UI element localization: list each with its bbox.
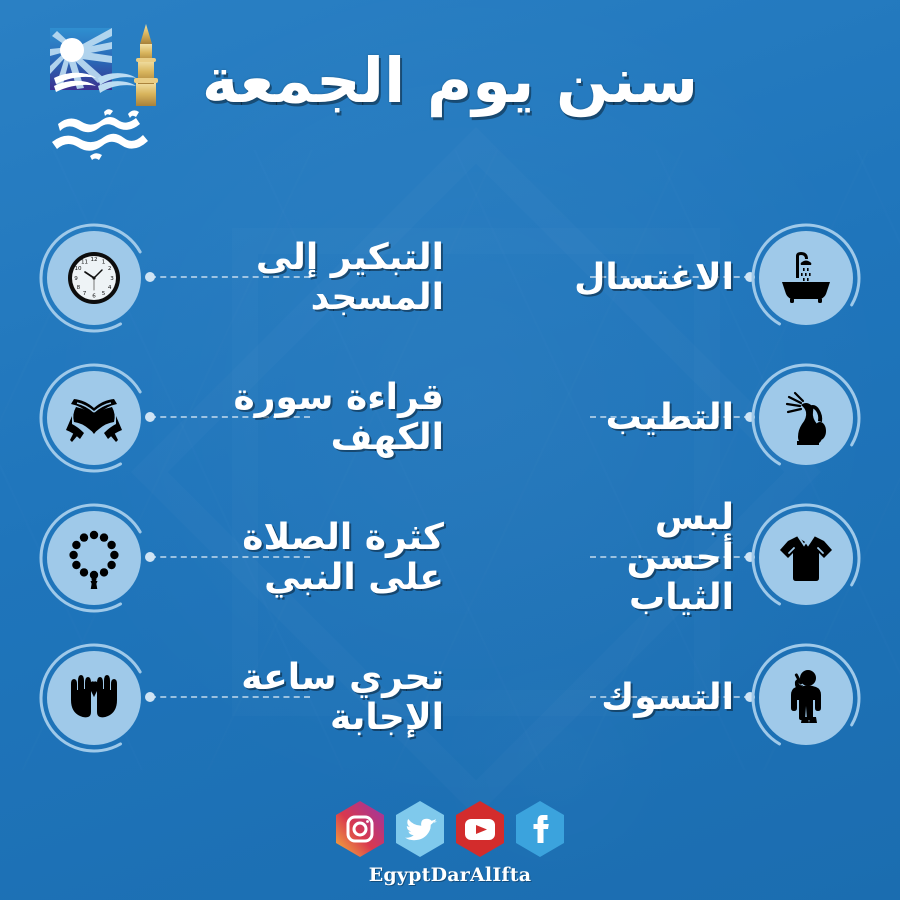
facebook-link[interactable] <box>514 800 566 858</box>
twitter-link[interactable] <box>394 800 446 858</box>
sunnah-label: التسوك <box>456 628 734 768</box>
praying-hands-icon <box>47 651 141 745</box>
icon-badge: 1212 345 678 91011 <box>38 222 150 334</box>
infographic-poster: سنن يوم الجمعة <box>0 0 900 900</box>
svg-text:1: 1 <box>102 260 106 266</box>
icon-badge <box>750 222 862 334</box>
sunnah-item-salawat[interactable]: كثرة الصلاة على النبي <box>0 488 450 628</box>
perfume-bottle-icon <box>759 371 853 465</box>
sunnah-item-hour-of-response[interactable]: تحري ساعة الإجابة <box>0 628 450 768</box>
sunnah-label: الاغتسال <box>456 208 734 348</box>
svg-text:2: 2 <box>108 266 112 272</box>
svg-text:6: 6 <box>92 294 96 300</box>
icon-badge <box>38 502 150 614</box>
youtube-icon <box>465 819 495 840</box>
sunnah-row: التطيب <box>0 348 900 488</box>
shirt-icon <box>759 511 853 605</box>
icon-badge <box>750 642 862 754</box>
icon-badge <box>38 642 150 754</box>
svg-text:12: 12 <box>90 257 97 263</box>
sunnah-item-surat-al-kahf[interactable]: قراءة سورة الكهف <box>0 348 450 488</box>
wall-clock-icon: 1212 345 678 91011 <box>47 231 141 325</box>
svg-text:9: 9 <box>74 276 78 282</box>
sunnah-row: الاغتسال 1212 345 <box>0 208 900 348</box>
sunnah-label: قراءة سورة الكهف <box>166 348 444 488</box>
svg-text:11: 11 <box>81 260 89 266</box>
icon-badge <box>750 502 862 614</box>
page-title: سنن يوم الجمعة <box>0 44 900 117</box>
sunnah-item-ghusl[interactable]: الاغتسال <box>450 208 900 348</box>
svg-text:5: 5 <box>102 291 106 297</box>
icon-badge <box>38 362 150 474</box>
sunnah-item-best-clothes[interactable]: لبس أحسن الثياب <box>450 488 900 628</box>
prayer-beads-icon <box>47 511 141 605</box>
svg-text:10: 10 <box>74 266 82 272</box>
svg-text:3: 3 <box>110 276 114 282</box>
sunnah-row: لبس أحسن الثياب <box>0 488 900 628</box>
sunnah-item-perfume[interactable]: التطيب <box>450 348 900 488</box>
sunnah-item-early-mosque[interactable]: 1212 345 678 91011 التبكير إلى المسجد <box>0 208 450 348</box>
sunnah-label: تحري ساعة الإجابة <box>166 628 444 768</box>
sunnah-label: التطيب <box>456 348 734 488</box>
sunnah-label: التبكير إلى المسجد <box>166 208 444 348</box>
sunnah-row: التسوك <box>0 628 900 768</box>
youtube-link[interactable] <box>454 800 506 858</box>
social-links <box>0 800 900 858</box>
sunnah-item-siwak[interactable]: التسوك <box>450 628 900 768</box>
open-quran-icon <box>47 371 141 465</box>
footer: EgyptDarAlIfta <box>0 800 900 886</box>
icon-badge <box>750 362 862 474</box>
svg-text:8: 8 <box>77 285 81 291</box>
svg-text:4: 4 <box>108 285 112 291</box>
svg-text:7: 7 <box>83 291 87 297</box>
sunnah-label: كثرة الصلاة على النبي <box>166 488 444 628</box>
instagram-link[interactable] <box>334 800 386 858</box>
siwak-person-icon <box>759 651 853 745</box>
sunnah-label: لبس أحسن الثياب <box>456 488 734 628</box>
bathtub-shower-icon <box>759 231 853 325</box>
social-handle: EgyptDarAlIfta <box>0 864 900 886</box>
